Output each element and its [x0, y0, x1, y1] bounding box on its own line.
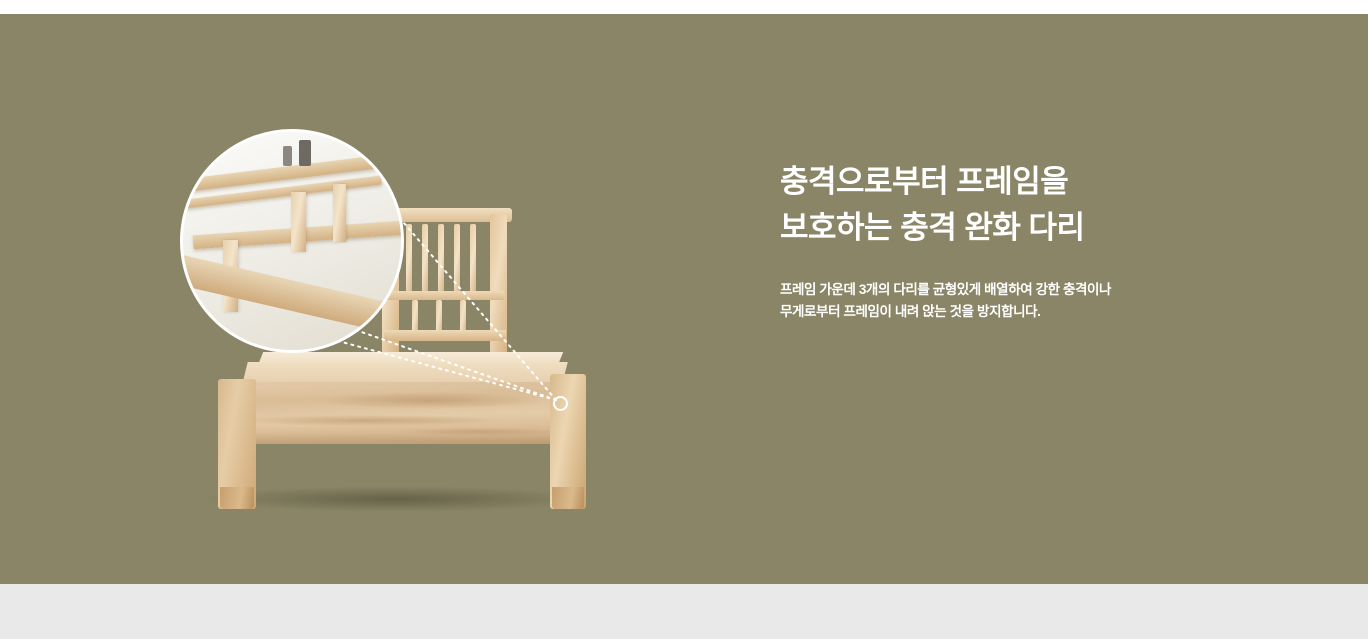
- bottom-gray-band: [0, 584, 1368, 639]
- bed-foot: [220, 487, 254, 509]
- product-detail-page: 충격으로부터 프레임을 보호하는 충격 완화 다리 프레임 가운데 3개의 다리…: [0, 0, 1368, 639]
- headboard-slat: [454, 224, 460, 294]
- magnified-detail-circle: [180, 129, 404, 353]
- support-leg-right: [333, 184, 346, 242]
- metal-bracket-icon: [283, 146, 292, 166]
- bed-frame-illustration: [150, 104, 670, 534]
- headboard-slat: [470, 224, 476, 294]
- headboard-lower-slat: [436, 300, 442, 332]
- hero-text-block: 충격으로부터 프레임을 보호하는 충격 완화 다리 프레임 가운데 3개의 다리…: [780, 159, 1230, 323]
- callout-target-marker: [553, 396, 568, 411]
- headboard-slat: [406, 224, 412, 294]
- hero-headline: 충격으로부터 프레임을 보호하는 충격 완화 다리: [780, 159, 1230, 251]
- bed-foot: [552, 487, 584, 509]
- magnified-photo: [183, 132, 401, 350]
- headboard-slat: [422, 224, 428, 294]
- metal-bracket-icon: [299, 140, 311, 166]
- hero-subcopy: 프레임 가운데 3개의 다리를 균형있게 배열하여 강한 충격이나 무게로부터 …: [780, 251, 1230, 323]
- bed-front-left-post: [218, 379, 256, 509]
- hero-banner: 충격으로부터 프레임을 보호하는 충격 완화 다리 프레임 가운데 3개의 다리…: [0, 14, 1368, 584]
- bed-front-right-post: [550, 374, 586, 509]
- product-shadow: [200, 486, 590, 512]
- support-leg-center: [291, 192, 306, 252]
- headboard-lower-slat: [460, 300, 466, 332]
- top-white-strip: [0, 0, 1368, 14]
- support-diagonal-rail: [180, 254, 404, 339]
- headboard-middle-rail: [386, 291, 504, 300]
- headboard-lower-slat: [412, 300, 418, 332]
- bed-side-rail: [236, 382, 561, 444]
- headboard-slat: [438, 224, 444, 294]
- wood-grain: [236, 382, 561, 444]
- headboard-bottom-rail: [384, 330, 506, 341]
